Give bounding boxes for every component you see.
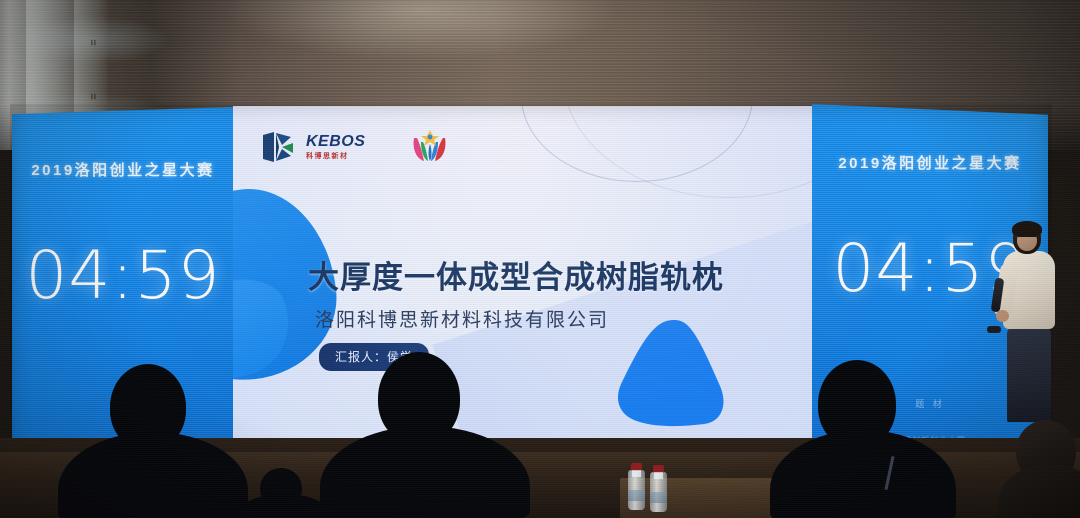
audience-shoulders (998, 464, 1080, 518)
audience-silhouette (770, 360, 956, 518)
audience-silhouette (58, 364, 248, 518)
audience-silhouette-foreground (1002, 420, 1080, 518)
water-bottle (650, 472, 667, 512)
presenter-hand (996, 310, 1009, 322)
audience-shoulders (320, 426, 530, 518)
on-stage-presenter (995, 222, 1075, 422)
audience-shoulders (236, 494, 332, 518)
bottle-label (628, 490, 645, 501)
water-bottle (628, 470, 645, 510)
bottle-label (650, 492, 667, 503)
kebos-logo-en: KEBOS (306, 134, 365, 150)
presenter-hair (1012, 221, 1042, 237)
audience-shoulders (58, 432, 248, 518)
right-panel-event-title: 2019洛阳创业之星大赛 (812, 152, 1048, 173)
audience-silhouette (236, 468, 328, 518)
left-panel-event-title: 2019洛阳创业之星大赛 (12, 159, 234, 180)
slide-main-title: 大厚度一体成型合成树脂轨枕 (308, 252, 724, 297)
slide-company-name: 洛阳科博思新材料科技有限公司 (315, 305, 609, 332)
bottle-neck (654, 472, 663, 479)
conference-stage-photo: = = 2019洛阳创业之星大赛 04:59 (0, 0, 1080, 518)
kebos-logo: KEBOS 科博思新材 (260, 131, 365, 163)
left-panel-countdown-timer: 04:59 (12, 237, 234, 314)
competition-star-logo-icon (411, 130, 449, 164)
slide-logo-row: KEBOS 科博思新材 (260, 130, 449, 164)
kebos-logo-text: KEBOS 科博思新材 (306, 134, 365, 160)
kebos-logo-cn: 科博思新材 (306, 153, 365, 160)
slide-rounded-triangle-shape (610, 314, 738, 434)
wall-marking-upper: = (87, 39, 99, 44)
kebos-mark-icon (260, 131, 300, 163)
bottle-neck (632, 470, 641, 477)
audience-silhouette (320, 352, 530, 518)
presenter-trousers (1007, 326, 1051, 422)
presentation-clicker-icon (987, 326, 1001, 333)
glasses-icon (1018, 236, 1036, 241)
audience-shoulders (770, 430, 956, 518)
